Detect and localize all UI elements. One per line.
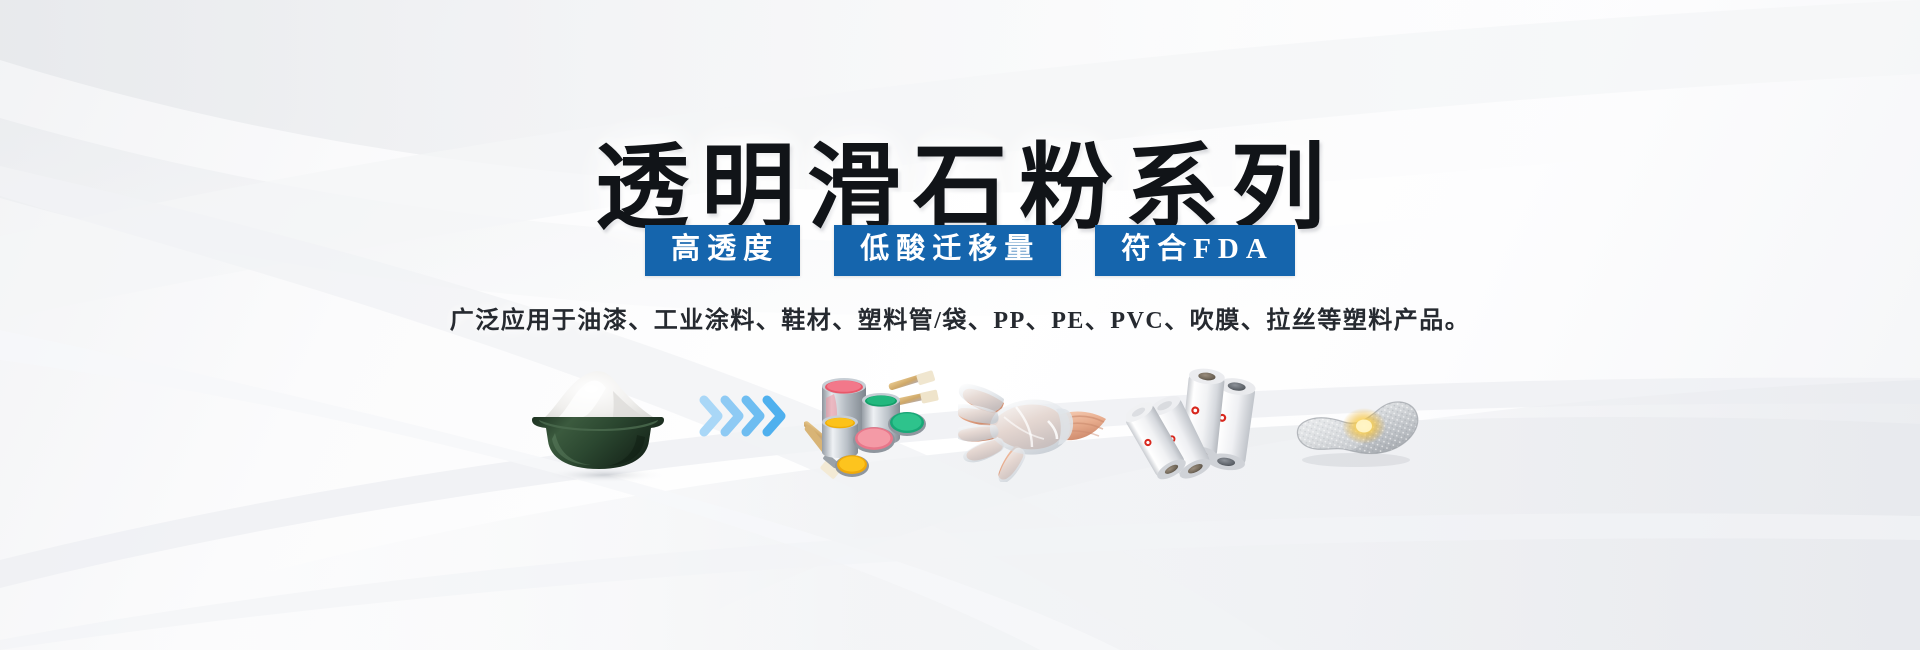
- plastic-glove-hand-image: [958, 377, 1108, 482]
- talc-powder-bowl-image: [513, 367, 688, 482]
- banner-subtitle-container: 广泛应用于油漆、工业涂料、鞋材、塑料管/袋、PP、PE、PVC、吹膜、拉丝等塑料…: [0, 305, 1920, 337]
- badge-low-acid-migration: 低酸迁移量: [834, 225, 1061, 276]
- process-arrows-icon: [696, 386, 796, 446]
- badge-fda-compliant: 符合FDA: [1095, 225, 1295, 276]
- product-banner: 透明滑石粉系列 高透度 低酸迁移量 符合FDA 广泛应用于油漆、工业涂料、鞋材、…: [0, 0, 1920, 650]
- paint-cans-image: [804, 362, 944, 482]
- application-figure-strip: [0, 352, 1920, 482]
- shoe-sole-image: [1282, 382, 1422, 482]
- feature-badge-row: 高透度 低酸迁移量 符合FDA: [0, 225, 1920, 276]
- plastic-film-rolls-image: [1126, 367, 1266, 482]
- application-description: 广泛应用于油漆、工业涂料、鞋材、塑料管/袋、PP、PE、PVC、吹膜、拉丝等塑料…: [450, 308, 1470, 334]
- badge-high-transparency: 高透度: [645, 225, 800, 276]
